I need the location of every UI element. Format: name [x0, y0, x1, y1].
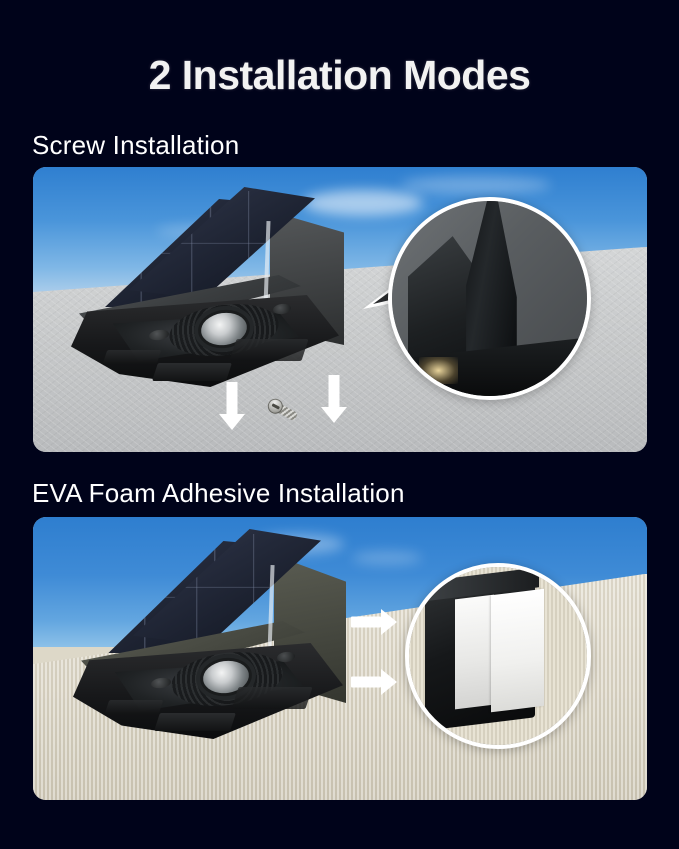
arrow-head [321, 407, 347, 423]
callout-eva-foam-detail [405, 563, 591, 749]
arrow-head [381, 609, 397, 635]
arrow-shaft [351, 617, 381, 628]
device-bottom-tab [154, 713, 236, 731]
callout-screw-detail [388, 197, 591, 400]
scene-grey-wall [33, 167, 647, 452]
eva-foam-pad-right [491, 589, 544, 713]
arrow-shaft [329, 375, 340, 407]
down-arrow-left [219, 382, 245, 430]
right-arrow-bottom [351, 669, 397, 695]
scene-beige-wall [33, 517, 647, 800]
section-label-eva-foam: EVA Foam Adhesive Installation [32, 478, 405, 509]
warm-reflection [419, 357, 458, 384]
arrow-shaft [227, 382, 238, 414]
eva-foam-installation-image [33, 517, 647, 800]
screw-installation-image [33, 167, 647, 452]
arrow-head [381, 669, 397, 695]
arrow-shaft [351, 677, 381, 688]
device-bottom-tab [152, 363, 232, 381]
cloud [401, 176, 551, 194]
infographic-page: 2 Installation Modes Screw Installation [0, 0, 679, 849]
right-arrow-top [351, 609, 397, 635]
arrow-head [219, 414, 245, 430]
section-label-screw: Screw Installation [32, 130, 239, 161]
device-bottom-lip-right [229, 339, 308, 361]
eva-foam-pad-left [455, 595, 494, 710]
page-title: 2 Installation Modes [0, 52, 679, 99]
device-bottom-lip [105, 700, 164, 714]
device-bottom-lip-right [231, 687, 312, 709]
down-arrow-right [321, 375, 347, 423]
cloud [352, 551, 422, 565]
device-bottom-lip [103, 350, 162, 364]
